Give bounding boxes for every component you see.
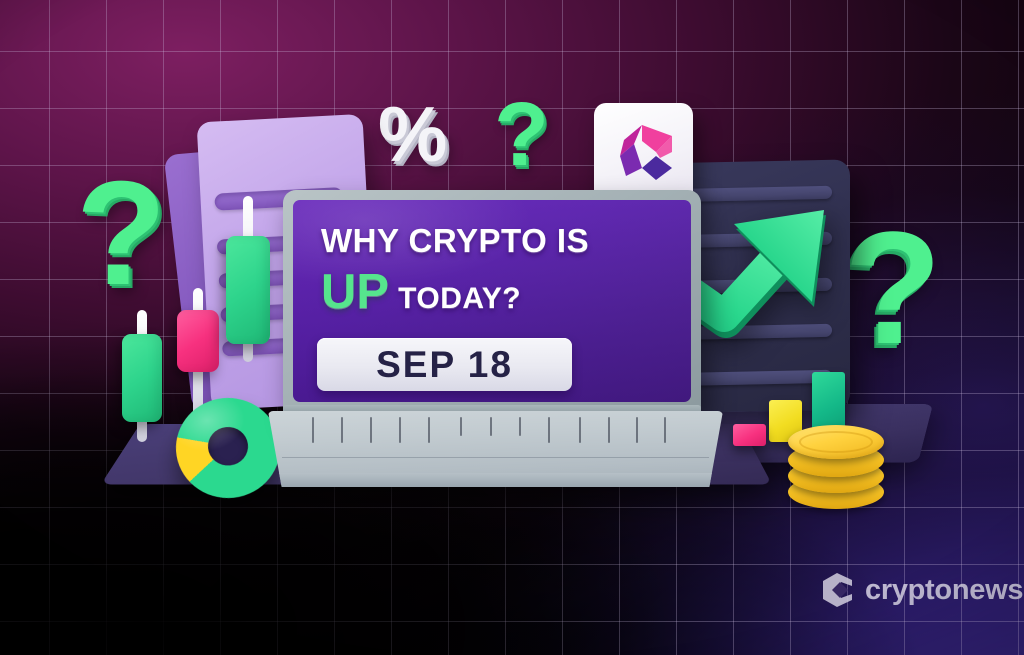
watermark: cryptonews: [820, 572, 1023, 608]
keyboard-key-divider: [399, 417, 401, 443]
headline-line-2-rest: TODAY?: [398, 282, 521, 315]
keyboard-key-divider: [490, 417, 492, 436]
keyboard-key-divider: [312, 417, 314, 443]
keyboard-base-edge: [268, 473, 723, 487]
coin-rim: [799, 431, 873, 453]
keyboard-key-divider: [664, 417, 666, 443]
keyboard-key-divider: [608, 417, 610, 443]
keyboard-key-divider: [428, 417, 430, 443]
keyboard-key-divider: [519, 417, 521, 436]
keyboard-key-divider: [460, 417, 462, 436]
headline-line-2: UPTODAY?: [321, 268, 651, 317]
laptop-keyboard: [268, 411, 723, 487]
question-mark-left-icon: ?: [76, 160, 166, 308]
cryptonews-mark-icon: [612, 122, 676, 188]
keyboard-key-divider: [579, 417, 581, 443]
keyboard-key-divider: [341, 417, 343, 443]
laptop-screen: WHY CRYPTO IS UPTODAY? SEP 18: [293, 200, 691, 402]
headline-block: WHY CRYPTO IS UPTODAY?: [321, 224, 651, 317]
candlestick-1: [122, 310, 162, 446]
hero-graphic: ? ? ? %: [0, 0, 1024, 655]
donut-chart-hole: [206, 425, 250, 467]
coin-stack: [788, 425, 884, 507]
keyboard-key-divider: [370, 417, 372, 443]
coin-top: [788, 425, 884, 459]
candlestick-body: [226, 236, 270, 344]
mini-bar-pink: [733, 424, 766, 446]
candlestick-3: [226, 196, 270, 366]
candlestick-body: [177, 310, 219, 372]
date-badge-label: SEP 18: [376, 344, 513, 386]
watermark-mark-icon: [820, 572, 854, 608]
watermark-text: cryptonews: [865, 574, 1023, 607]
candlestick-body: [122, 334, 162, 422]
percent-symbol-icon: %: [378, 95, 447, 173]
date-badge: SEP 18: [317, 338, 572, 391]
keyboard-key-row: [268, 415, 723, 448]
headline-emphasis-word: UP: [321, 265, 389, 319]
keyboard-seam: [282, 457, 710, 458]
question-mark-mid-icon: ?: [494, 90, 549, 180]
headline-line-1: WHY CRYPTO IS: [321, 224, 651, 257]
keyboard-key-divider: [548, 417, 550, 443]
keyboard-key-divider: [636, 417, 638, 443]
